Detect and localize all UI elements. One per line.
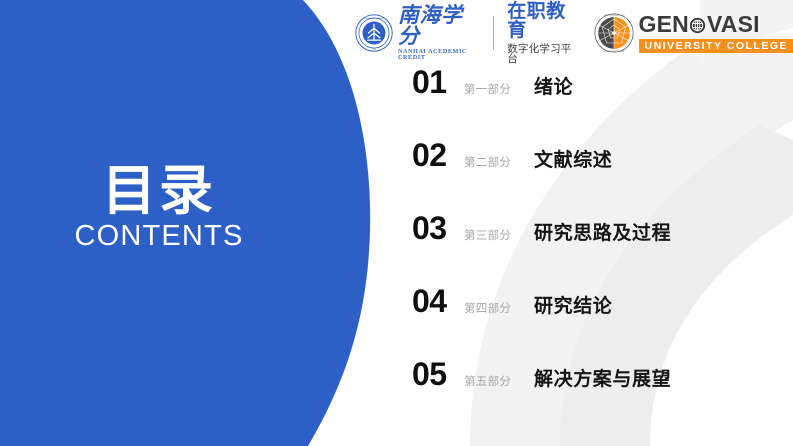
contents-part-label: 第四部分 <box>464 300 534 316</box>
logo-bar: NANHAI UNIVERSITY 1958 南海学分 NANHAI ACEDE… <box>355 9 793 57</box>
list-item[interactable]: 04 第四部分 研究结论 <box>412 283 792 356</box>
svg-text:UNIVERSITY COLLEGE: UNIVERSITY COLLEGE <box>603 51 625 53</box>
genovasi-word-right: VASI <box>707 13 760 36</box>
platform-subtitle: 数字化学习平台 <box>507 44 576 65</box>
contents-title: 研究结论 <box>534 291 612 318</box>
university-seal-icon: NANHAI UNIVERSITY 1958 <box>355 14 393 52</box>
svg-text:GENOVASI MALAYSIA: GENOVASI MALAYSIA <box>603 14 624 17</box>
platform-name: 在职教育 <box>507 2 576 40</box>
contents-list: 01 第一部分 绪论 02 第二部分 文献综述 03 第三部分 研究思路及过程 … <box>412 64 792 429</box>
contents-title: 解决方案与展望 <box>534 364 671 391</box>
list-item[interactable]: 01 第一部分 绪论 <box>412 64 792 137</box>
genovasi-subtitle-bar: UNIVERSITY COLLEGE <box>639 39 793 54</box>
list-item[interactable]: 05 第五部分 解决方案与展望 <box>412 356 792 429</box>
page-title-en: CONTENTS <box>0 220 318 253</box>
contents-number: 01 <box>412 64 464 101</box>
genovasi-word-left: GEN <box>639 13 689 36</box>
page-title-cn: 目录 <box>0 163 318 218</box>
contents-title: 绪论 <box>534 72 573 99</box>
contents-number: 05 <box>412 356 464 393</box>
platform-logo-text: 在职教育 数字化学习平台 <box>507 2 576 65</box>
nanhai-logo-text: 南海学分 NANHAI ACEDEMIC CREDIT <box>398 5 480 61</box>
contents-part-label: 第五部分 <box>464 373 534 389</box>
slide-title-block: 目录 CONTENTS <box>0 163 318 253</box>
nanhai-logo: NANHAI UNIVERSITY 1958 南海学分 NANHAI ACEDE… <box>355 5 480 61</box>
contents-title: 文献综述 <box>534 145 612 172</box>
nanhai-logo-cn: 南海学分 <box>398 5 480 47</box>
list-item[interactable]: 02 第二部分 文献综述 <box>412 137 792 210</box>
logo-divider <box>493 16 494 50</box>
list-item[interactable]: 03 第三部分 研究思路及过程 <box>412 210 792 283</box>
genovasi-logo: GENOVASI MALAYSIA UNIVERSITY COLLEGE GEN <box>594 13 793 53</box>
contents-number: 02 <box>412 137 464 174</box>
contents-number: 04 <box>412 283 464 320</box>
nanhai-logo-en: NANHAI ACEDEMIC CREDIT <box>398 49 480 61</box>
contents-part-label: 第三部分 <box>464 227 534 243</box>
genovasi-logo-text: GEN VASI UNIVERSITY COLLEGE <box>639 13 793 53</box>
svg-text:1958: 1958 <box>372 49 376 51</box>
genovasi-emblem-icon: GENOVASI MALAYSIA UNIVERSITY COLLEGE <box>594 13 634 53</box>
slide-canvas: 目录 CONTENTS NANHAI UNIVERSITY 195 <box>0 0 793 446</box>
globe-icon <box>689 17 706 34</box>
contents-title: 研究思路及过程 <box>534 218 671 245</box>
contents-number: 03 <box>412 210 464 247</box>
contents-part-label: 第一部分 <box>464 81 534 97</box>
genovasi-wordmark: GEN VASI <box>639 13 793 36</box>
svg-text:NANHAI UNIVERSITY: NANHAI UNIVERSITY <box>364 17 385 20</box>
contents-part-label: 第二部分 <box>464 154 534 170</box>
